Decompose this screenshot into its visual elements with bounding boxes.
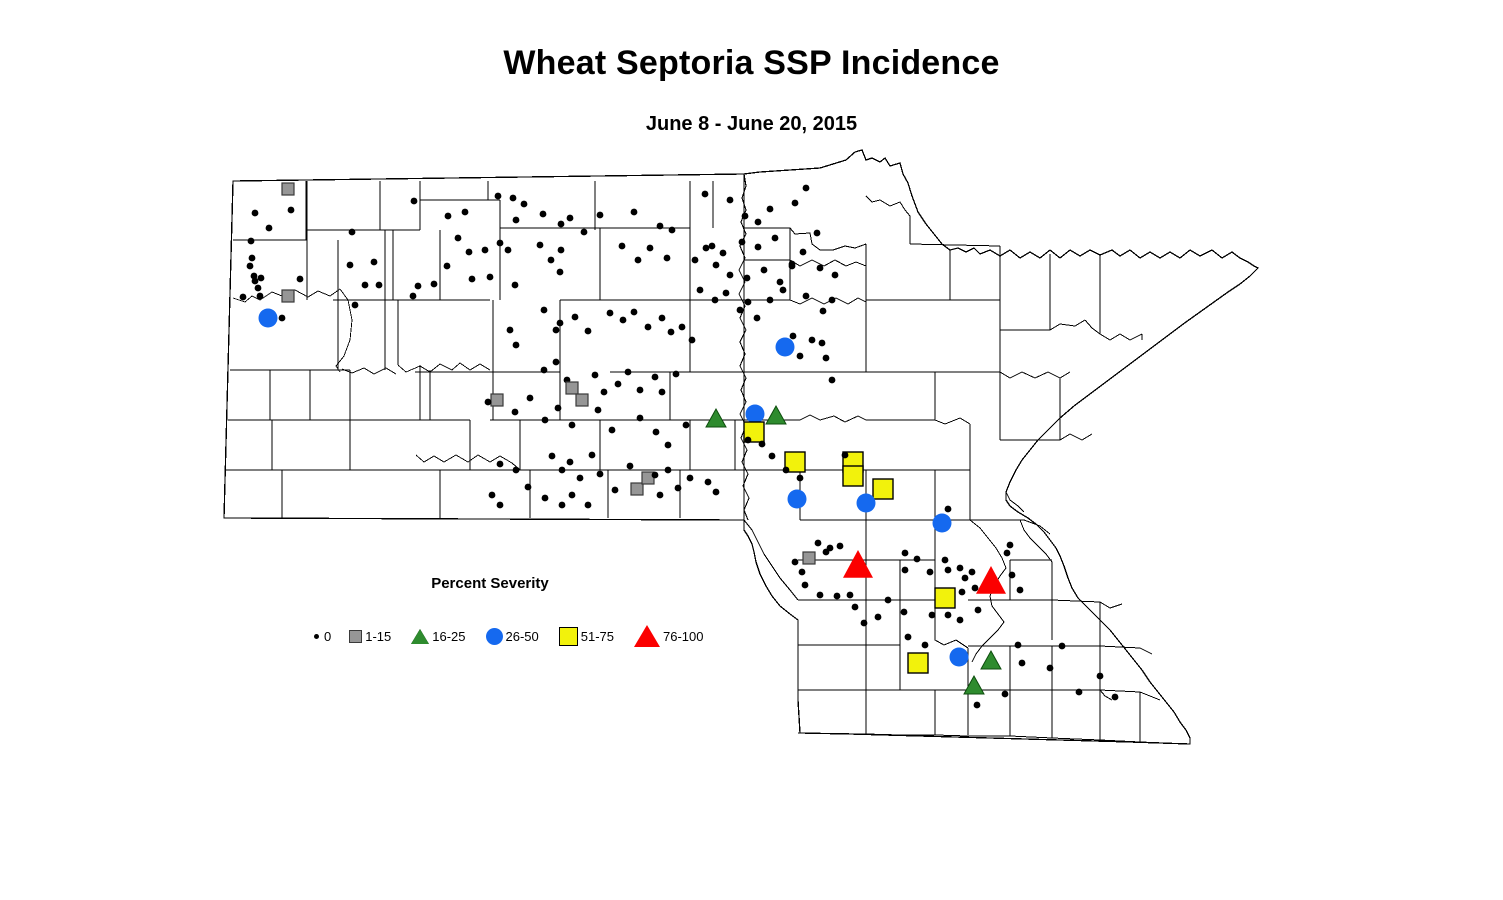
survey-point-0[interactable]: [842, 452, 849, 459]
legend-item-26-50[interactable]: 26-50: [476, 628, 539, 645]
survey-point-0[interactable]: [542, 495, 549, 502]
survey-point-0[interactable]: [615, 381, 622, 388]
survey-point-0[interactable]: [780, 287, 787, 294]
legend-label-51-75: 51-75: [581, 629, 614, 644]
legend-items: 0 1-15 16-25 26-50 51-75 76-100: [308, 623, 714, 649]
survey-point-0[interactable]: [802, 582, 809, 589]
survey-point-26-50[interactable]: [259, 309, 278, 328]
survey-point-0[interactable]: [755, 244, 762, 251]
survey-point-0[interactable]: [569, 492, 576, 499]
survey-point-0[interactable]: [627, 463, 634, 470]
survey-point-0[interactable]: [783, 467, 790, 474]
survey-point-0[interactable]: [922, 642, 929, 649]
survey-point-0[interactable]: [557, 269, 564, 276]
survey-point-0[interactable]: [1097, 673, 1104, 680]
map-page: Wheat Septoria SSP Incidence June 8 - Ju…: [0, 0, 1503, 900]
survey-point-0[interactable]: [902, 550, 909, 557]
survey-point-0[interactable]: [659, 315, 666, 322]
survey-point-0[interactable]: [637, 387, 644, 394]
minnesota-boundaries: [744, 150, 1258, 744]
survey-point-0[interactable]: [445, 213, 452, 220]
survey-point-0[interactable]: [969, 569, 976, 576]
survey-point-0[interactable]: [739, 239, 746, 246]
survey-point-0[interactable]: [612, 487, 619, 494]
survey-point-0[interactable]: [252, 278, 259, 285]
survey-point-0[interactable]: [797, 353, 804, 360]
survey-point-0[interactable]: [797, 475, 804, 482]
survey-point-0[interactable]: [469, 276, 476, 283]
survey-point-0[interactable]: [507, 327, 514, 334]
survey-point-0[interactable]: [482, 247, 489, 254]
survey-point-0[interactable]: [581, 229, 588, 236]
survey-point-0[interactable]: [557, 320, 564, 327]
survey-point-26-50[interactable]: [746, 405, 765, 424]
survey-point-0[interactable]: [972, 585, 979, 592]
survey-point-0[interactable]: [703, 245, 710, 252]
survey-point-16-25[interactable]: [964, 676, 984, 694]
legend-label-76-100: 76-100: [663, 629, 703, 644]
survey-point-0[interactable]: [555, 405, 562, 412]
blue-circle-icon: [486, 628, 503, 645]
survey-point-0[interactable]: [755, 219, 762, 226]
survey-point-0[interactable]: [702, 191, 709, 198]
survey-point-0[interactable]: [349, 229, 356, 236]
survey-point-0[interactable]: [567, 215, 574, 222]
survey-point-0[interactable]: [705, 479, 712, 486]
survey-point-0[interactable]: [455, 235, 462, 242]
survey-point-0[interactable]: [790, 333, 797, 340]
survey-point-0[interactable]: [1009, 572, 1016, 579]
survey-point-0[interactable]: [827, 545, 834, 552]
survey-point-0[interactable]: [847, 592, 854, 599]
survey-point-0[interactable]: [720, 250, 727, 257]
survey-point-0[interactable]: [625, 369, 632, 376]
survey-point-26-50[interactable]: [788, 490, 807, 509]
survey-point-0[interactable]: [834, 593, 841, 600]
survey-point-0[interactable]: [607, 310, 614, 317]
survey-point-0[interactable]: [823, 355, 830, 362]
survey-point-0[interactable]: [487, 274, 494, 281]
survey-point-0[interactable]: [553, 359, 560, 366]
survey-point-0[interactable]: [376, 282, 383, 289]
survey-point-0[interactable]: [652, 472, 659, 479]
survey-point-0[interactable]: [485, 399, 492, 406]
survey-point-0[interactable]: [819, 340, 826, 347]
states-map-svg: [0, 0, 1503, 900]
survey-point-51-75[interactable]: [843, 466, 863, 486]
survey-point-0[interactable]: [668, 329, 675, 336]
survey-point-0[interactable]: [1002, 691, 1009, 698]
survey-point-0[interactable]: [597, 471, 604, 478]
survey-point-0[interactable]: [497, 240, 504, 247]
survey-point-0[interactable]: [754, 315, 761, 322]
survey-point-0[interactable]: [777, 279, 784, 286]
survey-point-0[interactable]: [832, 272, 839, 279]
survey-point-0[interactable]: [558, 247, 565, 254]
dot-icon: [314, 634, 319, 639]
survey-point-1-15[interactable]: [566, 382, 578, 394]
survey-point-0[interactable]: [689, 337, 696, 344]
survey-point-0[interactable]: [927, 569, 934, 576]
legend-item-1-15[interactable]: 1-15: [341, 629, 391, 644]
survey-point-0[interactable]: [597, 212, 604, 219]
survey-point-0[interactable]: [497, 502, 504, 509]
survey-point-0[interactable]: [631, 309, 638, 316]
survey-point-0[interactable]: [1076, 689, 1083, 696]
legend-title: Percent Severity: [300, 575, 680, 592]
survey-point-0[interactable]: [875, 614, 882, 621]
survey-point-0[interactable]: [942, 557, 949, 564]
survey-point-0[interactable]: [513, 217, 520, 224]
survey-point-0[interactable]: [1017, 587, 1024, 594]
legend-item-0[interactable]: 0: [308, 629, 331, 644]
survey-point-0[interactable]: [619, 243, 626, 250]
survey-point-0[interactable]: [817, 592, 824, 599]
survey-point-0[interactable]: [815, 540, 822, 547]
survey-point-0[interactable]: [914, 556, 921, 563]
survey-point-1-15[interactable]: [491, 394, 503, 406]
survey-point-0[interactable]: [415, 283, 422, 290]
survey-point-0[interactable]: [792, 200, 799, 207]
survey-point-0[interactable]: [767, 297, 774, 304]
survey-point-0[interactable]: [512, 282, 519, 289]
survey-point-0[interactable]: [803, 293, 810, 300]
survey-point-0[interactable]: [1019, 660, 1026, 667]
survey-point-26-50[interactable]: [857, 494, 876, 513]
survey-point-0[interactable]: [742, 213, 749, 220]
survey-point-76-100[interactable]: [976, 566, 1006, 594]
survey-point-0[interactable]: [542, 417, 549, 424]
green-triangle-icon: [411, 629, 429, 644]
survey-point-0[interactable]: [727, 272, 734, 279]
survey-point-0[interactable]: [410, 293, 417, 300]
survey-point-0[interactable]: [444, 263, 451, 270]
survey-point-0[interactable]: [945, 612, 952, 619]
survey-point-0[interactable]: [974, 702, 981, 709]
survey-point-0[interactable]: [820, 308, 827, 315]
survey-point-0[interactable]: [635, 257, 642, 264]
survey-point-0[interactable]: [549, 453, 556, 460]
survey-point-0[interactable]: [248, 238, 255, 245]
survey-point-0[interactable]: [1015, 642, 1022, 649]
yellow-square-icon: [559, 627, 578, 646]
survey-point-0[interactable]: [692, 257, 699, 264]
survey-point-0[interactable]: [713, 262, 720, 269]
survey-point-0[interactable]: [266, 225, 273, 232]
survey-point-0[interactable]: [975, 607, 982, 614]
survey-point-0[interactable]: [657, 492, 664, 499]
survey-point-0[interactable]: [1059, 643, 1066, 650]
survey-point-0[interactable]: [592, 372, 599, 379]
survey-point-0[interactable]: [497, 461, 504, 468]
survey-point-0[interactable]: [559, 502, 566, 509]
survey-point-26-50[interactable]: [950, 648, 969, 667]
survey-point-0[interactable]: [513, 467, 520, 474]
survey-point-0[interactable]: [489, 492, 496, 499]
survey-point-0[interactable]: [495, 193, 502, 200]
survey-point-0[interactable]: [559, 467, 566, 474]
survey-point-0[interactable]: [1004, 550, 1011, 557]
survey-point-0[interactable]: [945, 567, 952, 574]
survey-point-0[interactable]: [240, 294, 247, 301]
survey-point-0[interactable]: [620, 317, 627, 324]
survey-point-0[interactable]: [249, 255, 256, 262]
survey-point-0[interactable]: [759, 441, 766, 448]
survey-point-0[interactable]: [279, 315, 286, 322]
survey-point-0[interactable]: [431, 281, 438, 288]
survey-point-51-75[interactable]: [873, 479, 893, 499]
survey-point-0[interactable]: [901, 609, 908, 616]
survey-point-0[interactable]: [1112, 694, 1119, 701]
survey-point-16-25[interactable]: [766, 406, 786, 424]
survey-point-0[interactable]: [1047, 665, 1054, 672]
survey-point-16-25[interactable]: [981, 651, 1001, 669]
survey-point-0[interactable]: [713, 489, 720, 496]
survey-point-0[interactable]: [541, 367, 548, 374]
survey-point-0[interactable]: [653, 429, 660, 436]
survey-point-0[interactable]: [257, 293, 264, 300]
survey-point-0[interactable]: [631, 209, 638, 216]
survey-point-0[interactable]: [466, 249, 473, 256]
survey-point-0[interactable]: [527, 395, 534, 402]
legend-label-26-50: 26-50: [506, 629, 539, 644]
survey-point-0[interactable]: [829, 297, 836, 304]
survey-point-0[interactable]: [809, 337, 816, 344]
survey-point-0[interactable]: [962, 575, 969, 582]
survey-point-0[interactable]: [525, 484, 532, 491]
survey-point-0[interactable]: [669, 227, 676, 234]
survey-point-0[interactable]: [683, 422, 690, 429]
survey-point-0[interactable]: [945, 506, 952, 513]
survey-point-0[interactable]: [558, 221, 565, 228]
survey-point-0[interactable]: [673, 371, 680, 378]
survey-point-0[interactable]: [745, 299, 752, 306]
survey-point-0[interactable]: [665, 442, 672, 449]
survey-point-0[interactable]: [637, 415, 644, 422]
survey-point-0[interactable]: [957, 617, 964, 624]
survey-point-0[interactable]: [585, 502, 592, 509]
survey-point-1-15[interactable]: [803, 552, 815, 564]
survey-point-0[interactable]: [789, 263, 796, 270]
survey-point-0[interactable]: [885, 597, 892, 604]
survey-point-0[interactable]: [505, 247, 512, 254]
survey-point-0[interactable]: [288, 207, 295, 214]
survey-point-0[interactable]: [723, 290, 730, 297]
survey-point-0[interactable]: [411, 198, 418, 205]
survey-point-0[interactable]: [601, 389, 608, 396]
survey-point-0[interactable]: [800, 249, 807, 256]
survey-point-51-75[interactable]: [908, 653, 928, 673]
survey-point-0[interactable]: [814, 230, 821, 237]
survey-point-0[interactable]: [675, 485, 682, 492]
survey-point-0[interactable]: [537, 242, 544, 249]
survey-point-0[interactable]: [645, 324, 652, 331]
survey-point-1-15[interactable]: [282, 290, 294, 302]
survey-point-0[interactable]: [540, 211, 547, 218]
survey-point-0[interactable]: [553, 327, 560, 334]
survey-point-0[interactable]: [727, 197, 734, 204]
survey-point-0[interactable]: [657, 223, 664, 230]
survey-point-26-50[interactable]: [933, 514, 952, 533]
survey-point-0[interactable]: [767, 206, 774, 213]
survey-point-0[interactable]: [852, 604, 859, 611]
survey-point-0[interactable]: [541, 307, 548, 314]
survey-point-0[interactable]: [362, 282, 369, 289]
survey-point-26-50[interactable]: [776, 338, 795, 357]
map-canvas[interactable]: [0, 0, 1503, 900]
survey-point-0[interactable]: [664, 255, 671, 262]
survey-point-0[interactable]: [297, 276, 304, 283]
survey-point-0[interactable]: [589, 452, 596, 459]
survey-point-0[interactable]: [371, 259, 378, 266]
survey-point-0[interactable]: [957, 565, 964, 572]
survey-point-0[interactable]: [652, 374, 659, 381]
survey-point-0[interactable]: [252, 210, 259, 217]
survey-point-0[interactable]: [572, 314, 579, 321]
survey-point-0[interactable]: [959, 589, 966, 596]
survey-point-0[interactable]: [697, 287, 704, 294]
survey-point-0[interactable]: [861, 620, 868, 627]
survey-point-0[interactable]: [1007, 542, 1014, 549]
survey-point-0[interactable]: [829, 377, 836, 384]
red-triangle-icon: [634, 625, 660, 647]
survey-point-0[interactable]: [709, 243, 716, 250]
survey-point-0[interactable]: [744, 275, 751, 282]
survey-point-0[interactable]: [510, 195, 517, 202]
survey-point-0[interactable]: [803, 185, 810, 192]
gray-square-icon: [349, 630, 362, 643]
survey-point-0[interactable]: [817, 265, 824, 272]
survey-point-0[interactable]: [905, 634, 912, 641]
survey-point-0[interactable]: [647, 245, 654, 252]
survey-point-1-15[interactable]: [631, 483, 643, 495]
survey-point-0[interactable]: [585, 328, 592, 335]
survey-point-76-100[interactable]: [843, 550, 873, 578]
survey-point-0[interactable]: [521, 201, 528, 208]
survey-point-0[interactable]: [929, 612, 936, 619]
survey-point-0[interactable]: [761, 267, 768, 274]
survey-point-16-25[interactable]: [706, 409, 726, 427]
survey-point-0[interactable]: [737, 307, 744, 314]
survey-point-0[interactable]: [512, 409, 519, 416]
legend-item-76-100[interactable]: 76-100: [624, 625, 703, 647]
survey-point-0[interactable]: [258, 275, 265, 282]
survey-point-0[interactable]: [567, 459, 574, 466]
survey-point-1-15[interactable]: [576, 394, 588, 406]
survey-point-0[interactable]: [255, 285, 262, 292]
legend-label-0: 0: [324, 629, 331, 644]
legend-label-16-25: 16-25: [432, 629, 465, 644]
survey-point-0[interactable]: [548, 257, 555, 264]
legend-label-1-15: 1-15: [365, 629, 391, 644]
legend-item-51-75[interactable]: 51-75: [549, 627, 614, 646]
survey-point-51-75[interactable]: [935, 588, 955, 608]
survey-point-0[interactable]: [687, 475, 694, 482]
survey-point-0[interactable]: [679, 324, 686, 331]
survey-point-0[interactable]: [577, 475, 584, 482]
survey-point-0[interactable]: [837, 543, 844, 550]
survey-point-0[interactable]: [609, 427, 616, 434]
survey-point-0[interactable]: [569, 422, 576, 429]
survey-point-0[interactable]: [462, 209, 469, 216]
survey-point-0[interactable]: [769, 453, 776, 460]
survey-point-0[interactable]: [595, 407, 602, 414]
survey-point-0[interactable]: [792, 559, 799, 566]
survey-point-0[interactable]: [347, 262, 354, 269]
survey-point-0[interactable]: [352, 302, 359, 309]
legend: Percent Severity 0 1-15 16-25 26-50 51-7…: [300, 575, 720, 655]
survey-point-0[interactable]: [247, 263, 254, 270]
survey-point-0[interactable]: [745, 437, 752, 444]
survey-point-0[interactable]: [902, 567, 909, 574]
survey-point-0[interactable]: [772, 235, 779, 242]
survey-point-0[interactable]: [799, 569, 806, 576]
survey-point-0[interactable]: [513, 342, 520, 349]
legend-item-16-25[interactable]: 16-25: [401, 629, 465, 644]
survey-point-0[interactable]: [712, 297, 719, 304]
survey-point-1-15[interactable]: [282, 183, 294, 195]
survey-point-0[interactable]: [659, 389, 666, 396]
survey-point-0[interactable]: [665, 467, 672, 474]
